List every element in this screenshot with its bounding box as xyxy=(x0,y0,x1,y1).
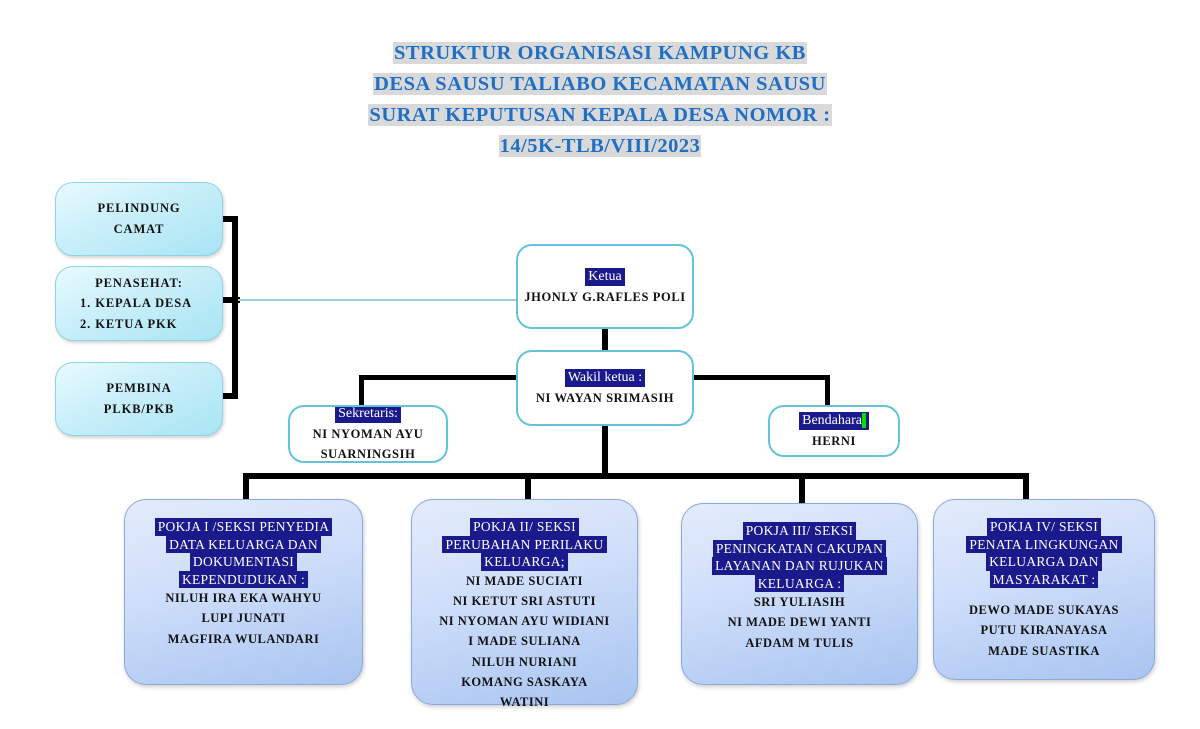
pokja-3-member-1: SRI YULIASIH xyxy=(754,592,845,612)
bendahara-header-green-mark: : xyxy=(862,413,866,428)
box-ketua[interactable]: Ketua JHONLY G.RAFLES POLI xyxy=(516,244,694,329)
pokja-2-member-1: NI MADE SUCIATI xyxy=(466,571,583,591)
pokja-3-header-line-3: LAYANAN DAN RUJUKAN xyxy=(712,557,887,575)
connector-pokja-3-drop xyxy=(799,473,805,505)
bendahara-name: HERNI xyxy=(812,432,856,451)
pokja-2-member-7: WATINI xyxy=(500,692,549,712)
sekretaris-header-wrap: Sekretaris: xyxy=(335,405,401,423)
ketua-header: Ketua xyxy=(585,268,624,286)
connector-ketua-to-wakil xyxy=(602,327,608,352)
pembina-line-2: PLKB/PKB xyxy=(104,399,174,420)
pokja-3-header-line-1: POKJA III/ SEKSI xyxy=(743,522,857,540)
pokja-4-header-line-2: PENATA LINGKUNGAN xyxy=(966,536,1121,554)
penasehat-line-2: 1. KEPALA DESA xyxy=(80,293,198,314)
pokja-1-header-line-3: DOKUMENTASI xyxy=(190,553,297,571)
wakil-ketua-header: Wakil ketua : xyxy=(565,369,645,387)
penasehat-line-1: PENASEHAT: xyxy=(95,273,183,294)
connector-pokja-bus xyxy=(243,473,1029,479)
box-pokja-2[interactable]: POKJA II/ SEKSI PERUBAHAN PERILAKU KELUA… xyxy=(411,499,638,705)
pokja-2-member-5: NILUH NURIANI xyxy=(472,652,577,672)
ketua-name: JHONLY G.RAFLES POLI xyxy=(524,288,685,307)
pokja-3-member-3: AFDAM M TULIS xyxy=(745,633,853,653)
sekretaris-header: Sekretaris: xyxy=(335,405,401,423)
pokja-1-member-2: LUPI JUNATI xyxy=(201,608,285,628)
connector-wakil-to-bendahara-vertical xyxy=(825,375,830,407)
box-sekretaris[interactable]: Sekretaris: NI NYOMAN AYU SUARNINGSIH xyxy=(288,405,448,463)
pokja-4-member-3: MADE SUASTIKA xyxy=(988,641,1100,661)
ketua-header-wrap: Ketua xyxy=(585,267,624,286)
title-line-1: STRUKTUR ORGANISASI KAMPUNG KB xyxy=(0,38,1200,69)
box-wakil-ketua[interactable]: Wakil ketua : NI WAYAN SRIMASIH xyxy=(516,350,694,426)
connector-wakil-drop xyxy=(602,425,608,475)
connector-penasehat-to-ketua xyxy=(238,299,518,301)
pelindung-line-1: PELINDUNG xyxy=(97,198,180,219)
title-line-2: DESA SAUSU TALIABO KECAMATAN SAUSU xyxy=(0,69,1200,100)
pokja-2-member-4: I MADE SULIANA xyxy=(468,631,581,651)
box-pokja-1[interactable]: POKJA I /SEKSI PENYEDIA DATA KELUARGA DA… xyxy=(124,499,363,685)
box-pelindung[interactable]: PELINDUNG CAMAT xyxy=(55,182,223,256)
pokja-1-member-3: MAGFIRA WULANDARI xyxy=(168,629,320,649)
pokja-4-member-2: PUTU KIRANAYASA xyxy=(980,620,1107,640)
pokja-2-header-line-1: POKJA II/ SEKSI xyxy=(470,518,579,536)
box-pokja-3[interactable]: POKJA III/ SEKSI PENINGKATAN CAKUPAN LAY… xyxy=(681,503,918,685)
pokja-2-member-6: KOMANG SASKAYA xyxy=(461,672,588,692)
sekretaris-name-1: NI NYOMAN AYU xyxy=(313,425,424,444)
box-bendahara[interactable]: Bendahara: HERNI xyxy=(768,405,900,457)
pokja-2-member-2: NI KETUT SRI ASTUTI xyxy=(453,591,596,611)
connector-wakil-to-sekretaris-horizontal xyxy=(359,375,518,380)
pokja-4-header-line-4: MASYARAKAT : xyxy=(990,571,1099,589)
pokja-3-header-line-4: KELUARGA : xyxy=(755,575,845,593)
wakil-ketua-header-wrap: Wakil ketua : xyxy=(565,368,645,387)
pelindung-line-2: CAMAT xyxy=(114,219,165,240)
pokja-4-header-line-3: KELUARGA DAN xyxy=(986,553,1102,571)
penasehat-line-3: 2. KETUA PKK xyxy=(80,314,198,335)
box-penasehat[interactable]: PENASEHAT: 1. KEPALA DESA 2. KETUA PKK xyxy=(55,266,223,341)
pokja-2-header-line-3: KELUARGA; xyxy=(481,553,568,571)
pokja-1-header-line-1: POKJA I /SEKSI PENYEDIA xyxy=(155,518,333,536)
pembina-line-1: PEMBINA xyxy=(106,378,171,399)
sekretaris-name-2: SUARNINGSIH xyxy=(321,445,416,463)
pokja-2-header-line-2: PERUBAHAN PERILAKU xyxy=(442,536,606,554)
box-pembina[interactable]: PEMBINA PLKB/PKB xyxy=(55,362,223,436)
pokja-4-member-1: DEWO MADE SUKAYAS xyxy=(969,600,1119,620)
pokja-1-header-line-2: DATA KELUARGA DAN xyxy=(166,536,321,554)
pokja-4-header-line-1: POKJA IV/ SEKSI xyxy=(987,518,1101,536)
bendahara-header-wrap: Bendahara: xyxy=(799,411,869,430)
pokja-2-member-3: NI NYOMAN AYU WIDIANI xyxy=(439,611,610,631)
connector-wakil-to-bendahara-horizontal xyxy=(692,375,830,380)
pokja-1-member-1: NILUH IRA EKA WAHYU xyxy=(165,588,321,608)
pokja-1-header-line-4: KEPENDUDUKAN : xyxy=(179,571,308,589)
connector-left-bracket-vertical xyxy=(232,219,238,399)
chart-title: STRUKTUR ORGANISASI KAMPUNG KB DESA SAUS… xyxy=(0,38,1200,163)
wakil-ketua-name: NI WAYAN SRIMASIH xyxy=(536,389,674,408)
title-line-3: SURAT KEPUTUSAN KEPALA DESA NOMOR : xyxy=(0,100,1200,131)
box-pokja-4[interactable]: POKJA IV/ SEKSI PENATA LINGKUNGAN KELUAR… xyxy=(933,499,1155,680)
bendahara-header: Bendahara: xyxy=(799,412,869,430)
title-line-4: 14/5K-TLB/VIII/2023 xyxy=(0,131,1200,162)
connector-wakil-to-sekretaris-vertical xyxy=(359,375,364,407)
pokja-3-header-line-2: PENINGKATAN CAKUPAN xyxy=(713,540,886,558)
pokja-3-member-2: NI MADE DEWI YANTI xyxy=(728,612,872,632)
